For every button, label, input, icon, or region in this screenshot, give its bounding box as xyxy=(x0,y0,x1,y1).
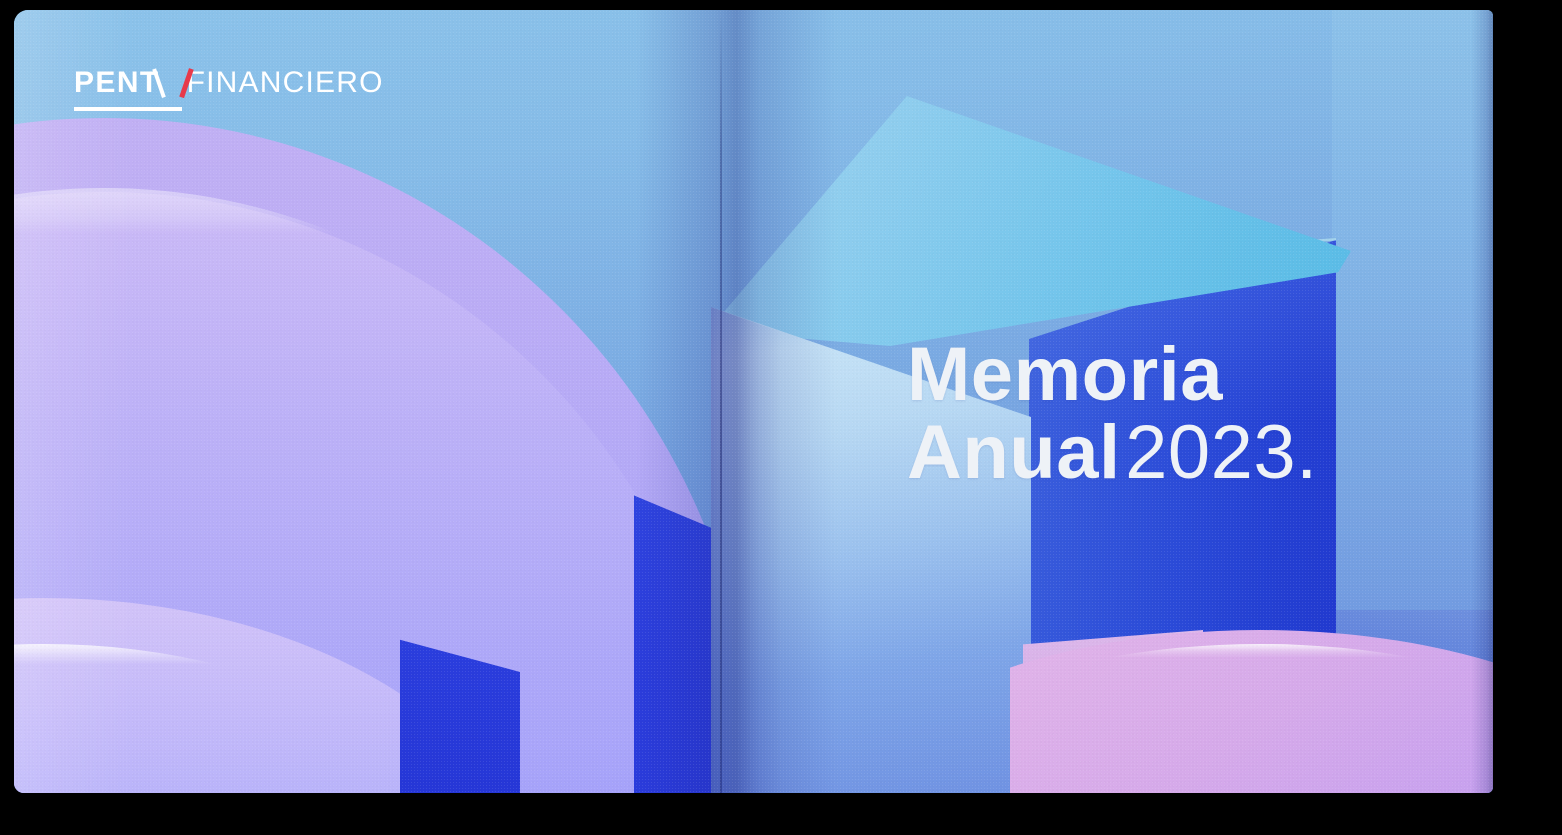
cover-title-year: 2023. xyxy=(1125,410,1318,495)
logo-accent-a-icon xyxy=(161,68,182,98)
cover-title-line-2: Anual 2023. xyxy=(907,414,1318,492)
book-spine-line xyxy=(720,10,722,793)
cover-title-line-1: Memoria xyxy=(907,336,1318,414)
logo-pentafinanciero: PENT FINANCIERO xyxy=(74,68,384,111)
book-cover-mockup: PENT FINANCIERO Memoria Anual 2023. xyxy=(14,10,1493,793)
arc-lower-right xyxy=(1010,630,1493,793)
logo-financiero-text: FINANCIERO xyxy=(187,68,384,111)
cover-title-anual: Anual xyxy=(907,410,1121,495)
logo-penta-wordmark: PENT xyxy=(74,68,182,111)
screenshot-stage: PENT FINANCIERO Memoria Anual 2023. xyxy=(0,0,1562,835)
cover-title-memoria: Memoria xyxy=(907,332,1223,417)
logo-penta-text: PENT xyxy=(74,68,160,98)
arc-lower-right-highlight xyxy=(1010,644,1493,793)
cover-title: Memoria Anual 2023. xyxy=(907,336,1318,493)
